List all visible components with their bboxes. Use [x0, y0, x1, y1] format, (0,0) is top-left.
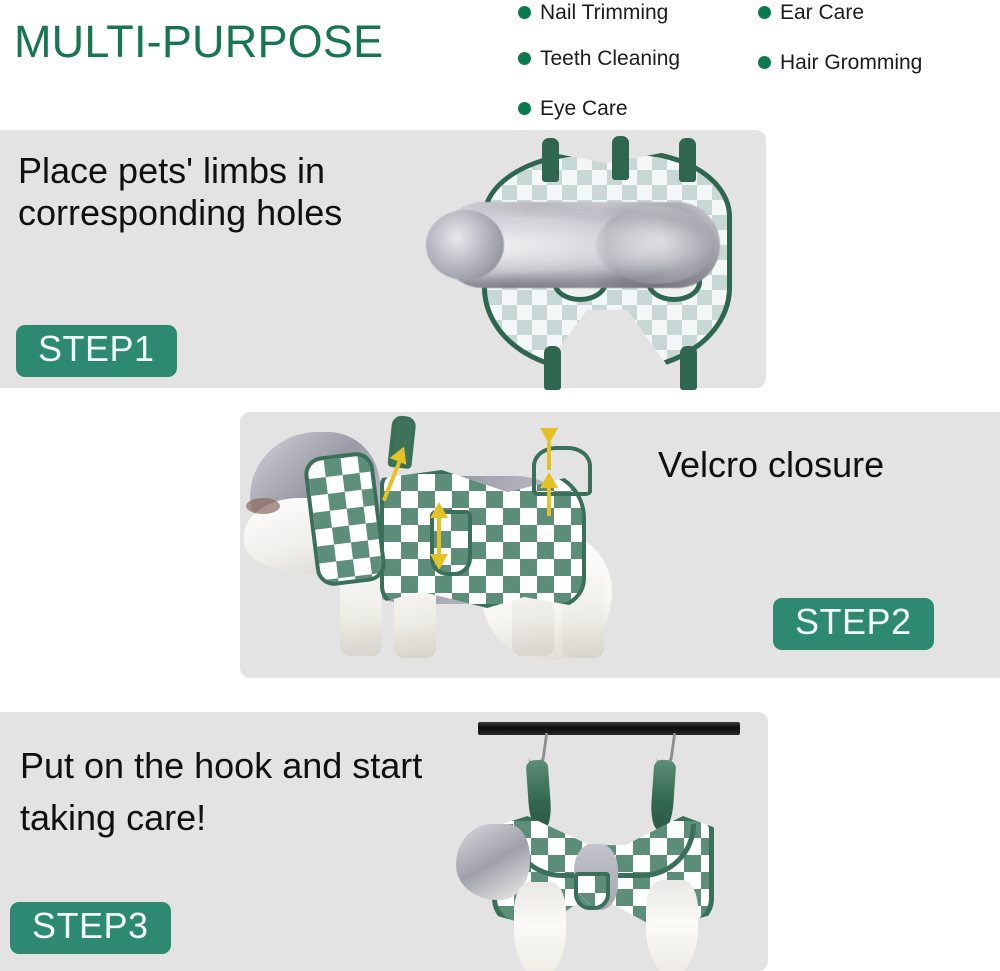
bullet-dot-icon — [518, 52, 531, 65]
product-infographic: MULTI-PURPOSE Nail Trimming Teeth Cleani… — [0, 0, 1000, 971]
arrow-stem — [437, 514, 441, 556]
feature-label: Ear Care — [780, 2, 864, 23]
bullet-dot-icon — [758, 6, 771, 19]
step-3-product-image — [456, 712, 768, 971]
feature-item-teeth-cleaning: Teeth Cleaning — [518, 48, 680, 69]
page-title: MULTI-PURPOSE — [14, 16, 383, 68]
hammock-strap — [542, 138, 559, 182]
step-2-badge: STEP2 — [773, 598, 934, 650]
dog-leg-fur — [514, 882, 566, 971]
arrow-down-icon — [430, 554, 448, 570]
dog-nose — [246, 498, 280, 514]
bullet-dot-icon — [518, 102, 531, 115]
bullet-dot-icon — [758, 56, 771, 69]
arrow-stem — [547, 442, 551, 470]
feature-label: Teeth Cleaning — [540, 48, 680, 69]
pet-fur-body — [440, 202, 720, 288]
step-3-instruction: Put on the hook and start taking care! — [20, 740, 470, 844]
header-section: MULTI-PURPOSE Nail Trimming Teeth Cleani… — [0, 0, 1000, 128]
step-3-badge: STEP3 — [10, 902, 171, 954]
hammock-strap — [544, 346, 561, 390]
hammock-strap — [612, 136, 629, 180]
dog-leg-fur — [646, 880, 698, 971]
step-2-instruction: Velcro closure — [658, 444, 988, 486]
feature-label: Nail Trimming — [540, 2, 668, 23]
feature-item-nail-trimming: Nail Trimming — [518, 2, 668, 23]
step-1-instruction: Place pets' limbs in corresponding holes — [18, 150, 448, 235]
arrow-stem — [547, 484, 551, 516]
feature-item-hair-gromming: Hair Gromming — [758, 52, 922, 73]
step-2-product-image — [244, 414, 644, 678]
hammock-strap — [680, 346, 697, 390]
feature-item-eye-care: Eye Care — [518, 98, 628, 119]
feature-label: Hair Gromming — [780, 52, 922, 73]
feature-label: Eye Care — [540, 98, 628, 119]
hanging-bar — [478, 722, 740, 735]
hammock-strap — [679, 138, 696, 182]
step-1-product-image — [432, 130, 766, 388]
feature-item-ear-care: Ear Care — [758, 2, 864, 23]
hammock-strap — [650, 759, 677, 830]
step-1-badge: STEP1 — [16, 325, 177, 377]
harness-hanging-loop — [532, 446, 592, 496]
velcro-closure-tab — [574, 872, 610, 910]
bullet-dot-icon — [518, 6, 531, 19]
